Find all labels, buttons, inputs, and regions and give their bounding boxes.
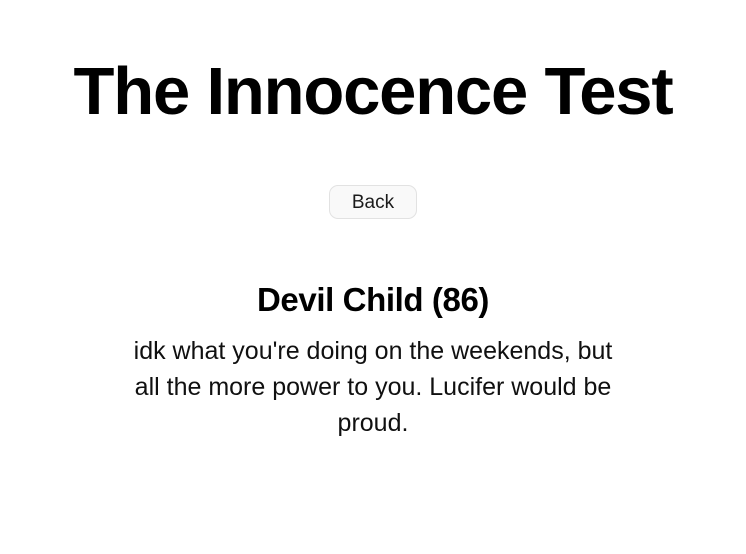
- page-root: The Innocence Test Back Devil Child (86)…: [0, 0, 746, 554]
- result-title: Devil Child (86): [257, 281, 489, 319]
- back-button-row: Back: [0, 185, 746, 219]
- page-title: The Innocence Test: [74, 58, 673, 125]
- back-button[interactable]: Back: [329, 185, 417, 219]
- result-description: idk what you're doing on the weekends, b…: [121, 333, 626, 441]
- result-block: Devil Child (86) idk what you're doing o…: [0, 281, 746, 441]
